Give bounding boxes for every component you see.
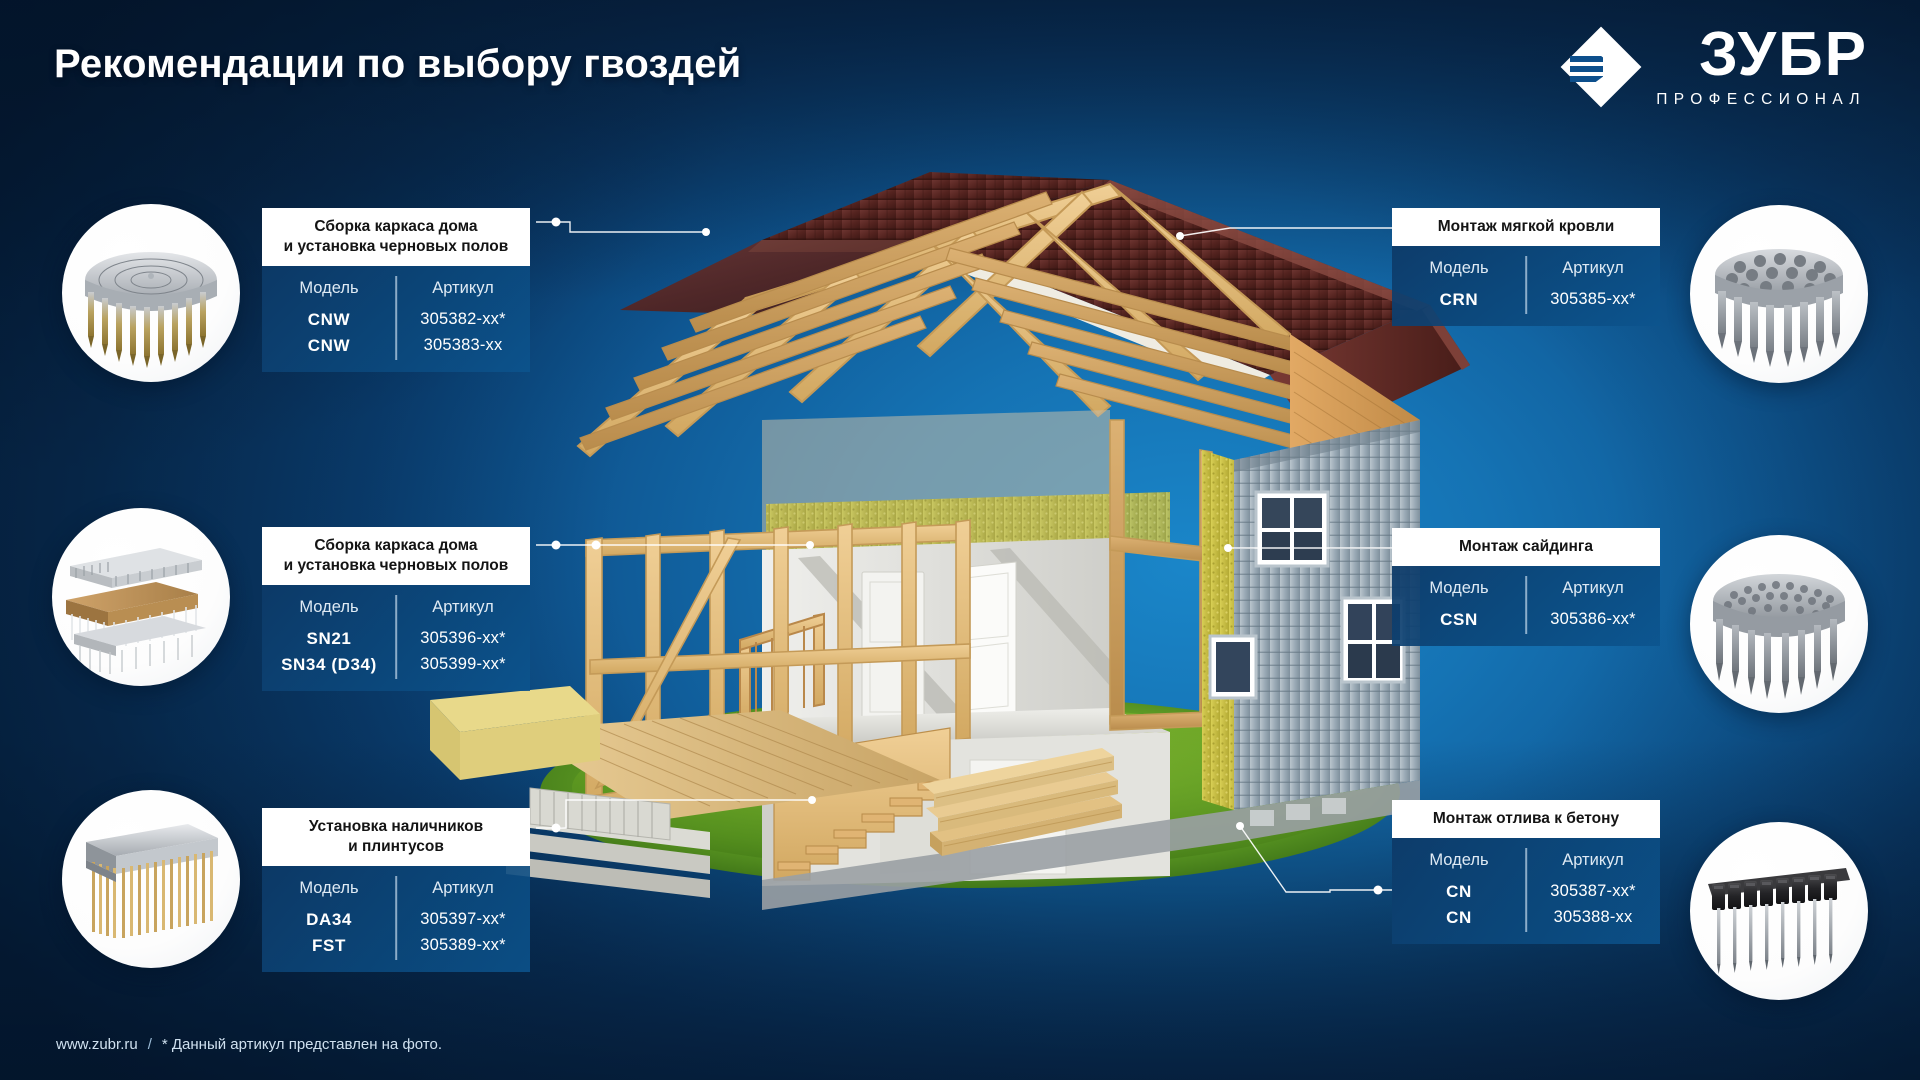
logo-brand-text: ЗУБР (1699, 26, 1868, 84)
column-header-article: Артикул (1526, 849, 1660, 879)
card-title-line1: Монтаж сайдинга (1459, 538, 1593, 555)
column-header-model: Модель (262, 596, 396, 626)
siding-nail-coil-icon (1690, 535, 1868, 713)
cell-article: 305396-xx* (396, 626, 530, 652)
cell-article: 305386-xx* (1526, 607, 1660, 633)
card-title-line1: Установка наличников (309, 818, 483, 835)
card-title-line1: Монтаж отлива к бетону (1433, 810, 1619, 827)
table-header-row: Модель Артикул (262, 277, 530, 307)
card-body: Модель Артикул SN21 305396-xx* SN34 (D34… (262, 585, 530, 691)
card-title-line1: Сборка каркаса дома (314, 218, 477, 235)
logo-tagline: ПРОФЕССИОНАЛ (1656, 91, 1866, 109)
footer-note: * Данный артикул представлен на фото. (162, 1036, 442, 1053)
card-title-line2: и установка черновых полов (284, 557, 509, 574)
cell-article: 305399-xx* (396, 652, 530, 678)
table-header-row: Модель Артикул (1392, 849, 1660, 879)
nail-coil-icon (62, 204, 240, 382)
column-header-article: Артикул (396, 877, 530, 907)
card-title: Монтаж мягкой кровли (1392, 208, 1660, 246)
nail-strip-icon (52, 508, 230, 686)
zubr-logo: ЗУБР ПРОФЕССИОНАЛ (1560, 26, 1868, 109)
card-body: Модель Артикул CRN 305385-xx* (1392, 246, 1660, 326)
card-title-line1: Монтаж мягкой кровли (1438, 218, 1614, 235)
footer-separator: / (148, 1036, 152, 1053)
cell-model: CSN (1392, 607, 1526, 633)
column-header-model: Модель (1392, 257, 1526, 287)
cell-model: CN (1392, 905, 1526, 931)
card-frame-assembly-coil[interactable]: Сборка каркаса дома и установка черновых… (262, 208, 530, 372)
cell-article: 305383-xx (396, 333, 530, 359)
cell-model: SN21 (262, 626, 396, 652)
cell-article: 305387-xx* (1526, 879, 1660, 905)
table-row: CNW 305382-xx* (262, 307, 530, 333)
cutaway-house-illustration (410, 120, 1500, 910)
table-header-row: Модель Артикул (1392, 257, 1660, 287)
cell-model: FST (262, 933, 396, 959)
column-header-article: Артикул (396, 277, 530, 307)
cell-model: SN34 (D34) (262, 652, 396, 678)
table-row: SN34 (D34) 305399-xx* (262, 652, 530, 678)
table-row: CN 305387-xx* (1392, 879, 1660, 905)
card-soft-roof[interactable]: Монтаж мягкой кровли Модель Артикул CRN … (1392, 208, 1660, 326)
column-header-article: Артикул (1526, 577, 1660, 607)
footer-website[interactable]: www.zubr.ru (56, 1036, 138, 1053)
card-title: Монтаж сайдинга (1392, 528, 1660, 566)
card-siding[interactable]: Монтаж сайдинга Модель Артикул CSN 30538… (1392, 528, 1660, 646)
table-row: CRN 305385-xx* (1392, 287, 1660, 313)
table-row: CNW 305383-xx (262, 333, 530, 359)
cell-article: 305385-xx* (1526, 287, 1660, 313)
cell-article: 305382-xx* (396, 307, 530, 333)
roofing-nail-coil-icon (1690, 205, 1868, 383)
cell-article: 305397-xx* (396, 907, 530, 933)
cell-model: DA34 (262, 907, 396, 933)
table-row: DA34 305397-xx* (262, 907, 530, 933)
table-header-row: Модель Артикул (262, 596, 530, 626)
card-body: Модель Артикул CN 305387-xx* CN 305388-x… (1392, 838, 1660, 944)
table-row: CN 305388-xx (1392, 905, 1660, 931)
column-header-model: Модель (1392, 577, 1526, 607)
zubr-diamond-arrow-icon (1560, 26, 1642, 108)
column-header-article: Артикул (1526, 257, 1660, 287)
brad-nail-strip-icon (62, 790, 240, 968)
card-title: Монтаж отлива к бетону (1392, 800, 1660, 838)
page-title: Рекомендации по выбору гвоздей (54, 42, 741, 87)
card-title-line2: и плинтусов (348, 838, 444, 855)
infographic-canvas: Рекомендации по выбору гвоздей ЗУБР ПРОФ… (0, 0, 1920, 1080)
table-header-row: Модель Артикул (1392, 577, 1660, 607)
card-title: Установка наличников и плинтусов (262, 808, 530, 866)
footer: www.zubr.ru / * Данный артикул представл… (56, 1036, 442, 1053)
card-title: Сборка каркаса дома и установка черновых… (262, 208, 530, 266)
cell-model: CN (1392, 879, 1526, 905)
card-drip-edge-concrete[interactable]: Монтаж отлива к бетону Модель Артикул CN… (1392, 800, 1660, 944)
column-header-model: Модель (262, 277, 396, 307)
card-body: Модель Артикул CNW 305382-xx* CNW 305383… (262, 266, 530, 372)
cell-article: 305388-xx (1526, 905, 1660, 931)
table-header-row: Модель Артикул (262, 877, 530, 907)
column-header-model: Модель (1392, 849, 1526, 879)
column-header-model: Модель (262, 877, 396, 907)
card-frame-assembly-strip[interactable]: Сборка каркаса дома и установка черновых… (262, 527, 530, 691)
table-row: FST 305389-xx* (262, 933, 530, 959)
card-trim-baseboard[interactable]: Установка наличников и плинтусов Модель … (262, 808, 530, 972)
table-row: SN21 305396-xx* (262, 626, 530, 652)
cell-model: CRN (1392, 287, 1526, 313)
card-title-line2: и установка черновых полов (284, 238, 509, 255)
card-body: Модель Артикул CSN 305386-xx* (1392, 566, 1660, 646)
card-body: Модель Артикул DA34 305397-xx* FST 30538… (262, 866, 530, 972)
card-title-line1: Сборка каркаса дома (314, 537, 477, 554)
cell-model: CNW (262, 307, 396, 333)
cell-model: CNW (262, 333, 396, 359)
table-row: CSN 305386-xx* (1392, 607, 1660, 633)
concrete-nail-strip-icon (1690, 822, 1868, 1000)
card-title: Сборка каркаса дома и установка черновых… (262, 527, 530, 585)
cell-article: 305389-xx* (396, 933, 530, 959)
column-header-article: Артикул (396, 596, 530, 626)
